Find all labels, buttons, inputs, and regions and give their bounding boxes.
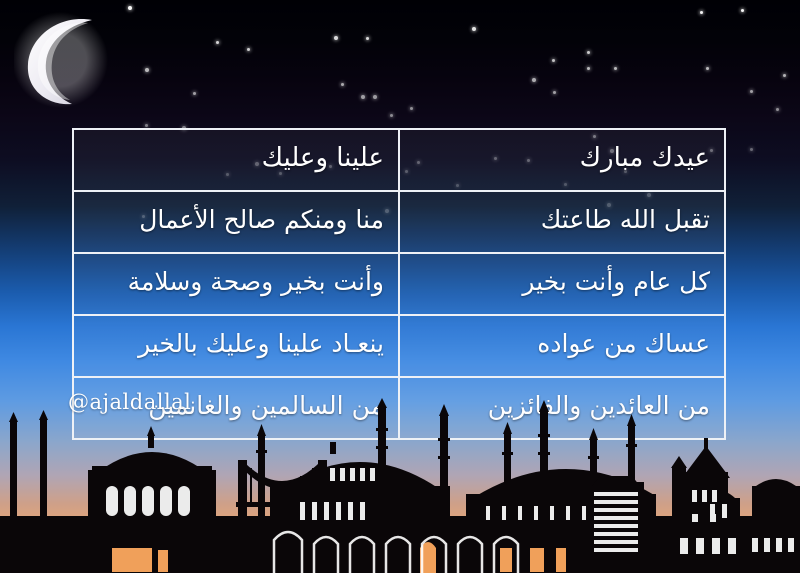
star-icon xyxy=(614,67,617,70)
star-icon xyxy=(334,36,338,40)
star-icon xyxy=(553,91,556,94)
star-icon xyxy=(145,124,148,127)
table-row: منا ومنكم صالح الأعمال تقبل الله طاعتك xyxy=(73,191,725,253)
table-row: ينعـاد علينا وعليك بالخير عساك من عواده xyxy=(73,315,725,377)
reply-cell: علينا وعليك xyxy=(73,129,399,191)
star-icon xyxy=(366,37,369,40)
star-icon xyxy=(145,68,149,72)
reply-cell: منا ومنكم صالح الأعمال xyxy=(73,191,399,253)
greeting-cell: كل عام وأنت بخير xyxy=(399,253,725,315)
star-icon xyxy=(247,48,250,51)
star-icon xyxy=(341,83,344,86)
star-icon xyxy=(361,95,365,99)
star-icon xyxy=(741,9,744,12)
star-icon xyxy=(783,74,786,77)
star-icon xyxy=(193,92,196,95)
star-icon xyxy=(472,27,476,31)
reply-cell: ينعـاد علينا وعليك بالخير xyxy=(73,315,399,377)
star-icon xyxy=(587,67,590,70)
star-icon xyxy=(216,41,219,44)
star-icon xyxy=(410,107,413,110)
star-icon xyxy=(128,6,132,10)
star-icon xyxy=(587,51,590,54)
star-icon xyxy=(706,67,709,70)
star-icon xyxy=(750,148,753,151)
star-icon xyxy=(532,78,536,82)
skyline-right-structures xyxy=(0,398,800,573)
star-icon xyxy=(750,90,753,93)
eid-greeting-poster: علينا وعليك عيدك مبارك منا ومنكم صالح ال… xyxy=(0,0,800,573)
star-icon xyxy=(776,108,779,111)
star-icon xyxy=(552,59,555,62)
greeting-cell: تقبل الله طاعتك xyxy=(399,191,725,253)
table-row: علينا وعليك عيدك مبارك xyxy=(73,129,725,191)
star-icon xyxy=(390,114,393,117)
greeting-cell: عيدك مبارك xyxy=(399,129,725,191)
crescent-moon-icon xyxy=(14,8,110,108)
table-row: وأنت بخير وصحة وسلامة كل عام وأنت بخير xyxy=(73,253,725,315)
star-icon xyxy=(700,11,703,14)
reply-cell: وأنت بخير وصحة وسلامة xyxy=(73,253,399,315)
greeting-cell: عساك من عواده xyxy=(399,315,725,377)
star-icon xyxy=(373,95,377,99)
